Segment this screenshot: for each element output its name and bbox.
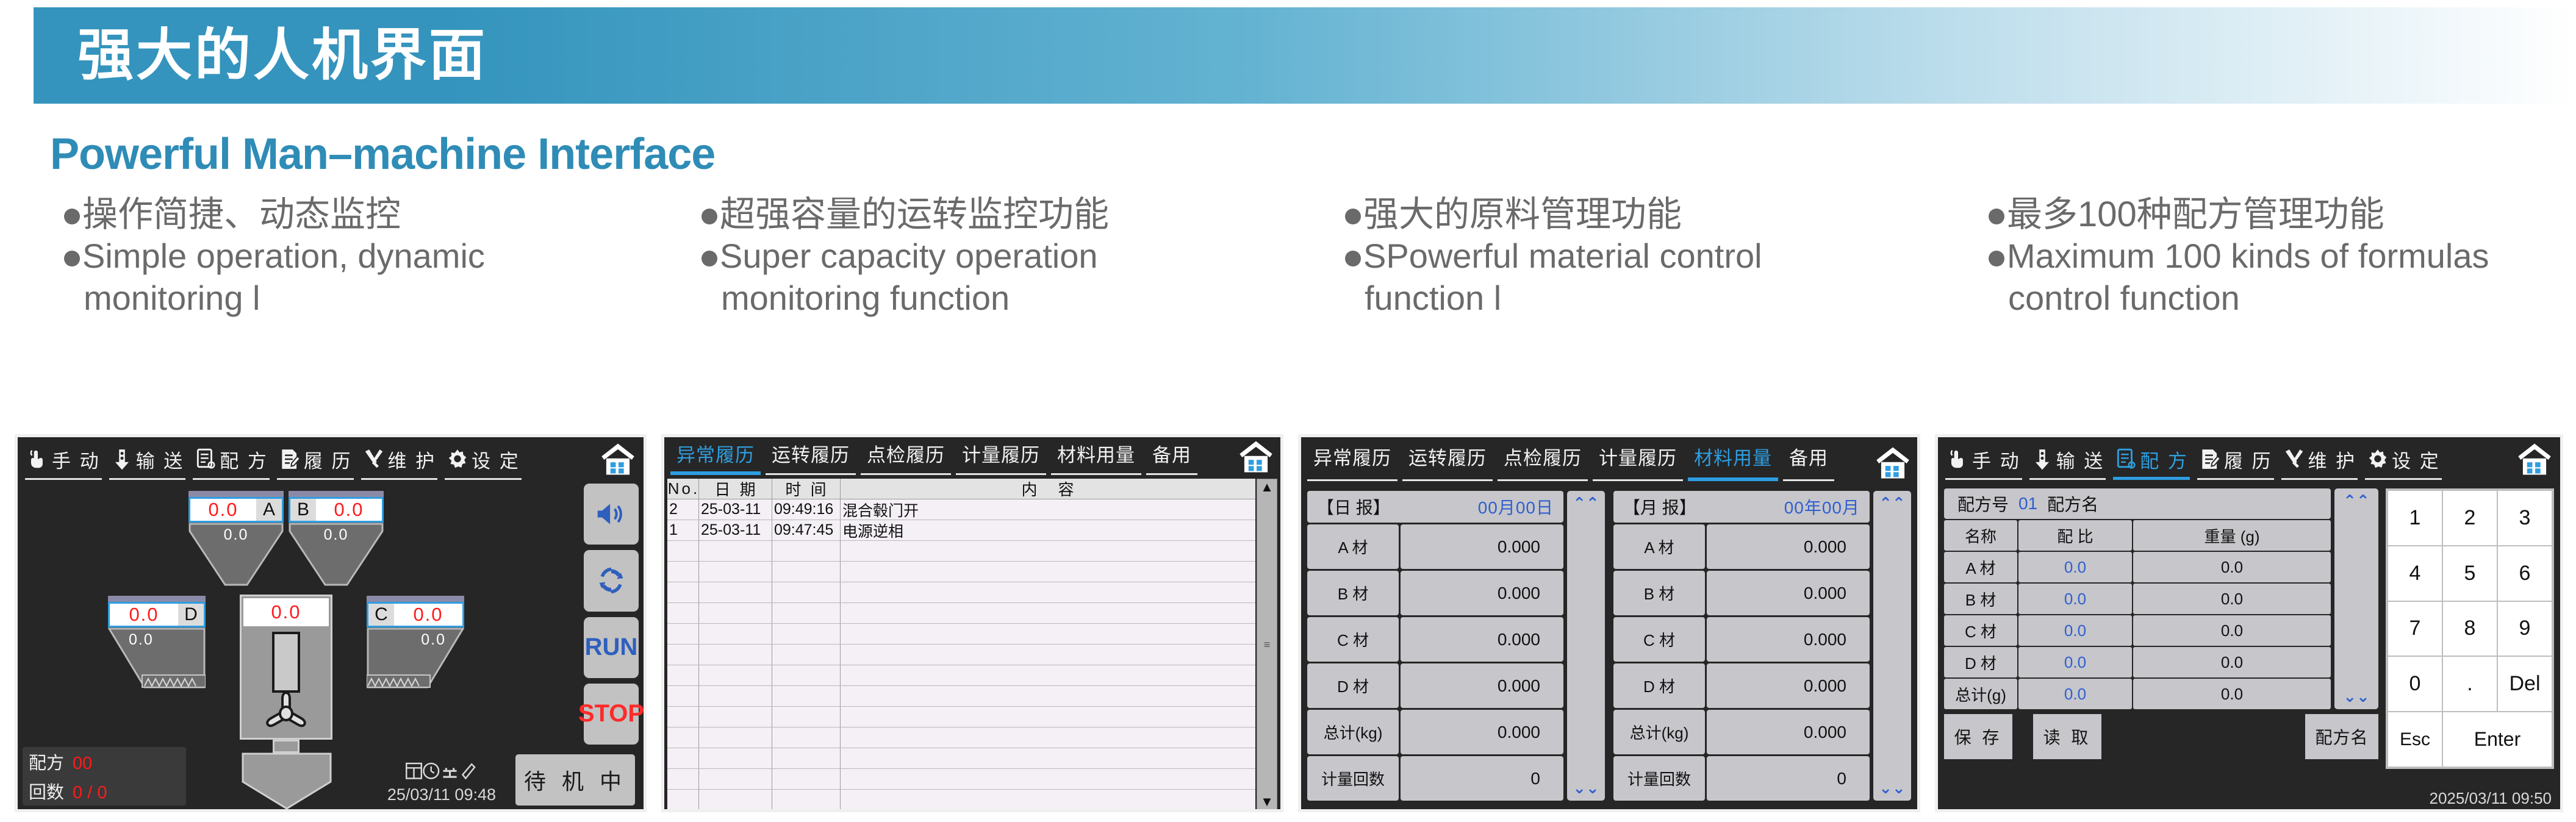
recipe-row: C 材0.00.0 — [1944, 615, 2331, 646]
daily-report-title: 【日 报】 — [1317, 495, 1390, 519]
cell-no — [667, 541, 699, 561]
mixer-gate — [273, 740, 300, 753]
feature-cn-text: 超强容量的运转监控功能 — [720, 195, 1109, 235]
cell-date — [699, 686, 772, 706]
cell-no — [667, 707, 699, 727]
scroll-down-arrow-icon[interactable]: ⌄⌄ — [2343, 690, 2370, 703]
hopper-b-subvalue: 0.0 — [289, 526, 384, 544]
hopper-c-value-bar[interactable]: C 0.0 — [367, 602, 464, 627]
reset-button[interactable] — [584, 550, 639, 611]
tab-operation-history[interactable]: 运转履历 — [1400, 437, 1495, 482]
tab-material-usage[interactable]: 材料用量 — [1049, 437, 1144, 476]
cell-date — [699, 582, 772, 602]
monthly-scroll-control[interactable]: ⌃⌃ ⌄⌄ — [1873, 491, 1911, 801]
monthly-report: 【月 报】 00年00月 A 材0.000B 材0.000C 材0.000D 材… — [1613, 491, 1911, 801]
monthly-report-header: 【月 报】 00年00月 — [1613, 491, 1870, 523]
feature-en-text: SPowerful material control — [1363, 237, 1762, 276]
nav-item-transport[interactable]: 输 送 — [106, 437, 190, 481]
run-button[interactable]: RUN — [584, 617, 639, 678]
recipe-cell-weight[interactable]: 0.0 — [2133, 552, 2331, 582]
hopper-d-value: 0.0 — [110, 604, 178, 626]
hmi-screenshot-row: 手 动 输 送 配 方 履 历 — [0, 434, 2576, 812]
feature-en-text: Simple operation, dynamic — [82, 237, 485, 276]
save-button[interactable]: 保 存 — [1944, 714, 2012, 759]
recipe-header: 配方号 01 配方名 — [1944, 488, 2331, 519]
keypad-key-6[interactable]: 6 — [2498, 546, 2552, 601]
hopper-b-value-bar[interactable]: B 0.0 — [289, 497, 384, 523]
keypad-key-.[interactable]: . — [2443, 657, 2497, 711]
cell-no — [667, 645, 699, 665]
feature-en-text: Super capacity operation — [720, 237, 1098, 276]
nav-label: 配 方 — [2140, 446, 2189, 473]
tab-alarm-history[interactable]: 异常履历 — [668, 437, 763, 476]
recipe-cell-ratio[interactable]: 0.0 — [2018, 552, 2132, 582]
tab-label: 点检履历 — [867, 440, 945, 467]
monthly-report-title: 【月 报】 — [1623, 495, 1696, 519]
tab-underline — [861, 473, 951, 475]
cell-content — [841, 603, 1255, 623]
nav-underline — [445, 478, 522, 480]
monthly-report-rows: A 材0.000B 材0.000C 材0.000D 材0.000总计(kg)0.… — [1613, 524, 1870, 801]
hopper-a-value: 0.0 — [190, 499, 256, 521]
hopper-a-subvalue: 0.0 — [188, 526, 284, 544]
hmi-panel-material-usage: 异常履历 运转履历 点检履历 计量履历 材料用量 备用 — [1298, 434, 1920, 812]
nav-underline — [2281, 478, 2358, 480]
nav-label: 维 护 — [2308, 446, 2357, 473]
history-doc-icon — [278, 448, 301, 471]
buzzer-button[interactable] — [584, 484, 639, 545]
tab-spare[interactable]: 备用 — [1144, 437, 1200, 476]
cell-time — [772, 686, 841, 706]
table-row[interactable] — [667, 665, 1255, 686]
cell-content — [841, 665, 1255, 685]
report-row-label: A 材 — [1613, 524, 1705, 569]
table-row[interactable] — [667, 645, 1255, 665]
nav-item-history[interactable]: 履 历 — [2194, 437, 2278, 481]
report-row-value: 0.000 — [1401, 617, 1563, 662]
nav-label: 手 动 — [1972, 446, 2021, 473]
table-row[interactable]: 225-03-1109:49:16混合毂门开 — [667, 499, 1255, 520]
bullet-dot-icon — [1345, 251, 1361, 266]
nav-underline — [109, 478, 186, 480]
tab-label: 计量履历 — [962, 440, 1040, 467]
keypad-key-5[interactable]: 5 — [2443, 546, 2497, 601]
tab-label: 运转履历 — [772, 440, 850, 467]
recipe-cell-name: C 材 — [1944, 615, 2017, 646]
speaker-icon — [595, 500, 627, 528]
keypad-key-1[interactable]: 1 — [2388, 491, 2442, 545]
keypad-key-del[interactable]: Del — [2498, 657, 2552, 711]
cell-time — [772, 790, 841, 810]
keypad-key-9[interactable]: 9 — [2498, 602, 2552, 656]
down-arrow-icon — [110, 448, 134, 471]
feature-cn-line: 操作简捷、动态监控 — [64, 195, 644, 235]
cell-time — [772, 748, 841, 768]
col-header-time: 时 间 — [772, 479, 841, 499]
hopper-b-value: 0.0 — [316, 499, 382, 521]
recipe-cell-ratio[interactable]: 0.0 — [2018, 584, 2132, 614]
clock-glyph-icons — [387, 760, 496, 784]
report-row: D 材0.000 — [1307, 663, 1563, 708]
scroll-up-arrow-icon[interactable]: ⌃⌃ — [1573, 497, 1599, 510]
nav-label: 维 护 — [388, 446, 437, 473]
report-row: C 材0.000 — [1613, 617, 1870, 662]
cell-no — [667, 562, 699, 582]
recipe-cell-weight[interactable]: 0.0 — [2133, 679, 2331, 709]
panel1-side-buttons: RUN STOP — [584, 484, 639, 745]
feature-en-line: SPowerful material control — [1345, 237, 1931, 276]
nav-item-settings[interactable]: 设 定 — [2361, 437, 2445, 481]
nav-label: 履 历 — [304, 446, 353, 473]
cell-time — [772, 727, 841, 748]
home-icon[interactable] — [2511, 440, 2558, 479]
mixer-vessel[interactable]: 0.0 — [240, 595, 332, 740]
panel1-navbar: 手 动 输 送 配 方 履 历 — [18, 437, 644, 481]
panel1-mimic-area: 0.0 A 0.0 B 0.0 — [18, 481, 644, 809]
nav-item-manual[interactable]: 手 动 — [21, 437, 106, 481]
discharge-chute — [241, 752, 332, 810]
cell-time — [772, 582, 841, 602]
hopper-d-value-bar[interactable]: 0.0 D — [108, 602, 206, 627]
nav-underline — [277, 478, 354, 480]
scroll-down-arrow-icon[interactable]: ▼ — [1260, 795, 1274, 809]
feature-en-continuation: control function — [2008, 278, 2574, 318]
recipe-cell-name: A 材 — [1944, 552, 2017, 582]
table-header-row: No. 日 期 时 间 内 容 — [667, 479, 1255, 499]
cell-content — [841, 686, 1255, 706]
report-row-value: 0.000 — [1707, 663, 1870, 708]
daily-report-period[interactable]: 00月00日 — [1478, 495, 1554, 519]
panel2-body: No. 日 期 时 间 内 容 225-03-1109:49:16混合毂门开12… — [664, 476, 1280, 812]
tab-underline — [1051, 473, 1141, 475]
panel4-body: 配方号 01 配方名 名称 配 比 重量 (g) A 材0.00.0B 材0.0… — [1938, 481, 2560, 809]
report-row-label: 总计(kg) — [1613, 710, 1705, 754]
alarm-log-table: No. 日 期 时 间 内 容 225-03-1109:49:16混合毂门开12… — [667, 479, 1255, 810]
table-row[interactable] — [667, 686, 1255, 707]
report-row: 计量回数0 — [1613, 756, 1870, 801]
recipe-table-area: 配方号 01 配方名 名称 配 比 重量 (g) A 材0.00.0B 材0.0… — [1944, 488, 2378, 709]
feature-cn-text: 最多100种配方管理功能 — [2007, 195, 2384, 235]
bullet-dot-icon — [64, 251, 80, 266]
daily-report: 【日 报】 00月00日 A 材0.000B 材0.000C 材0.000D 材… — [1307, 491, 1605, 801]
nav-item-settings[interactable]: 设 定 — [441, 437, 525, 481]
scroll-up-arrow-icon[interactable]: ▲ — [1260, 481, 1274, 494]
nav-label: 设 定 — [472, 446, 520, 473]
hopper-c[interactable]: C 0.0 0.0 — [367, 596, 464, 692]
cell-date — [699, 562, 772, 582]
nav-item-manual[interactable]: 手 动 — [1942, 437, 2026, 481]
feature-en-line: Simple operation, dynamic — [64, 237, 644, 276]
keypad-key-2[interactable]: 2 — [2443, 491, 2497, 545]
timestamp: 25/03/11 09:48 — [387, 785, 496, 804]
cell-date — [699, 624, 772, 644]
tab-spare[interactable]: 备用 — [1781, 437, 1837, 482]
clock-area: 25/03/11 09:48 — [387, 760, 496, 804]
report-row-value: 0 — [1401, 756, 1563, 801]
report-row-value: 0.000 — [1707, 571, 1870, 615]
recipe-no-value[interactable]: 01 — [2018, 494, 2037, 513]
keypad-key-0[interactable]: 0 — [2388, 657, 2442, 711]
recipe-cell-weight[interactable]: 0.0 — [2133, 615, 2331, 646]
home-icon[interactable] — [1233, 437, 1279, 476]
nav-item-maintenance[interactable]: 维 护 — [2278, 437, 2362, 481]
feature-column: 最多100种配方管理功能 Maximum 100 kinds of formul… — [1931, 195, 2574, 378]
cell-content — [841, 769, 1255, 789]
keypad-key-esc[interactable]: Esc — [2388, 712, 2442, 767]
cell-content — [841, 582, 1255, 602]
daily-scroll-control[interactable]: ⌃⌃ ⌄⌄ — [1567, 491, 1605, 801]
hopper-a-tag: A — [256, 499, 282, 521]
table-row[interactable]: 125-03-1109:47:45电源逆相 — [667, 520, 1255, 541]
cell-time — [772, 541, 841, 561]
bullet-dot-icon — [701, 251, 717, 266]
status-count-row: 回数 0 / 0 — [29, 778, 180, 804]
cell-content — [841, 624, 1255, 644]
col-header-content: 内 容 — [841, 479, 1255, 499]
tab-operation-history[interactable]: 运转履历 — [763, 437, 858, 476]
recipe-cell-ratio[interactable]: 0.0 — [2018, 615, 2132, 646]
report-row: 总计(kg)0.000 — [1307, 710, 1563, 754]
nav-underline — [2029, 478, 2106, 480]
report-row-value: 0.000 — [1401, 524, 1563, 569]
vertical-scrollbar[interactable]: ▲ ≡ ▼ — [1257, 479, 1277, 810]
tab-label: 备用 — [1152, 440, 1191, 467]
recipe-action-buttons: 保 存 读 取 配方名 — [1944, 714, 2378, 759]
bullet-dot-icon — [1345, 209, 1361, 224]
hopper-c-subvalue: 0.0 — [367, 631, 464, 649]
recipe-cell-ratio[interactable]: 0.0 — [2018, 679, 2132, 709]
cell-date — [699, 727, 772, 748]
recipe-scroll-control[interactable]: ⌃⌃ ⌄⌄ — [2334, 488, 2378, 709]
feature-en-continuation: function l — [1365, 278, 1931, 318]
report-row-label: 计量回数 — [1613, 756, 1705, 801]
report-row-label: D 材 — [1613, 663, 1705, 708]
keypad-key-3[interactable]: 3 — [2498, 491, 2552, 545]
table-row[interactable] — [667, 624, 1255, 645]
cell-content — [841, 562, 1255, 582]
feature-column: 操作简捷、动态监控 Simple operation, dynamic moni… — [0, 195, 644, 378]
recipe-doc-icon — [194, 448, 217, 471]
cell-date — [699, 541, 772, 561]
report-row: D 材0.000 — [1613, 663, 1870, 708]
table-row[interactable] — [667, 582, 1255, 603]
report-row-value: 0.000 — [1401, 663, 1563, 708]
report-row-label: C 材 — [1307, 617, 1399, 662]
tab-underline — [766, 473, 856, 475]
daily-report-rows: A 材0.000B 材0.000C 材0.000D 材0.000总计(kg)0.… — [1307, 524, 1563, 801]
cell-no: 1 — [667, 520, 699, 540]
hopper-d[interactable]: 0.0 D 0.0 — [108, 596, 206, 692]
scroll-down-arrow-icon[interactable]: ⌄⌄ — [1573, 782, 1599, 795]
cell-date — [699, 748, 772, 768]
recipe-row: B 材0.00.0 — [1944, 584, 2331, 614]
table-row[interactable] — [667, 603, 1255, 624]
keypad-key-enter[interactable]: Enter — [2443, 712, 2552, 767]
hopper-cap — [108, 596, 206, 602]
cell-content — [841, 790, 1255, 810]
status-count-value: 0 / 0 — [73, 783, 107, 803]
nav-underline — [25, 478, 102, 480]
scroll-down-arrow-icon[interactable]: ⌄⌄ — [1879, 782, 1906, 795]
panel2-tabbar: 异常履历 运转履历 点检履历 计量履历 材料用量 备用 — [664, 437, 1280, 476]
hopper-b-tag: B — [290, 499, 316, 521]
report-row-label: D 材 — [1307, 663, 1399, 708]
hopper-d-subvalue: 0.0 — [108, 631, 206, 649]
recipe-cell-weight[interactable]: 0.0 — [2133, 647, 2331, 677]
hopper-cap — [188, 491, 284, 497]
tab-underline — [1307, 479, 1397, 481]
table-row[interactable] — [667, 707, 1255, 727]
scroll-up-arrow-icon[interactable]: ⌃⌃ — [1879, 497, 1906, 510]
cell-date: 25-03-11 — [699, 499, 772, 520]
hopper-d-funnel: 0.0 — [108, 627, 206, 692]
hopper-c-value: 0.0 — [394, 604, 462, 626]
report-row: A 材0.000 — [1307, 524, 1563, 569]
alarm-log-rows: 225-03-1109:49:16混合毂门开125-03-1109:47:45电… — [667, 499, 1255, 810]
cell-time — [772, 562, 841, 582]
table-row[interactable] — [667, 769, 1255, 790]
keypad-key-7[interactable]: 7 — [2388, 602, 2442, 656]
panel4-navbar: 手 动 输 送 配 方 履 历 — [1938, 437, 2560, 481]
home-icon[interactable] — [1870, 443, 1916, 482]
hopper-a[interactable]: 0.0 A 0.0 — [188, 491, 284, 589]
recipe-table: 配方号 01 配方名 名称 配 比 重量 (g) A 材0.00.0B 材0.0… — [1944, 488, 2331, 709]
refresh-icon — [597, 566, 626, 595]
daily-report-header: 【日 报】 00月00日 — [1307, 491, 1563, 523]
tab-inspection-history[interactable]: 点检履历 — [858, 437, 953, 476]
cell-time: 09:49:16 — [772, 499, 841, 520]
report-row-value: 0.000 — [1707, 710, 1870, 754]
mixer-total-value: 0.0 — [243, 598, 329, 626]
cell-content — [841, 727, 1255, 748]
nav-label: 履 历 — [2224, 446, 2273, 473]
hand-touch-icon — [26, 448, 49, 471]
scroll-thumb-grip[interactable]: ≡ — [1264, 639, 1271, 650]
tab-underline — [1498, 479, 1588, 481]
recipe-cell-name: B 材 — [1944, 584, 2017, 614]
tab-label: 计量履历 — [1599, 443, 1677, 470]
report-row: C 材0.000 — [1307, 617, 1563, 662]
cell-content — [841, 645, 1255, 665]
tab-weighing-history[interactable]: 计量履历 — [953, 437, 1049, 476]
cell-no — [667, 665, 699, 685]
col-header-no: No. — [667, 479, 699, 499]
status-count-label: 回数 — [29, 778, 64, 804]
hopper-c-funnel: 0.0 — [367, 627, 464, 692]
cell-no — [667, 582, 699, 602]
report-row-value: 0.000 — [1401, 571, 1563, 615]
feature-column: 强大的原料管理功能 SPowerful material control fun… — [1287, 195, 1931, 378]
nav-item-recipe[interactable]: 配 方 — [189, 437, 273, 481]
tab-weighing-history[interactable]: 计量履历 — [1590, 437, 1685, 482]
keypad-key-8[interactable]: 8 — [2443, 602, 2497, 656]
report-row-value: 0 — [1707, 756, 1870, 801]
tab-label: 异常履历 — [676, 440, 755, 467]
panel3-tabbar: 异常履历 运转履历 点检履历 计量履历 材料用量 备用 — [1301, 437, 1917, 482]
hopper-b-funnel: 0.0 — [289, 523, 384, 589]
panel3-body: 【日 报】 00月00日 A 材0.000B 材0.000C 材0.000D 材… — [1301, 482, 1917, 809]
mixer-shaft — [272, 632, 300, 693]
cell-no — [667, 624, 699, 644]
tab-underline — [670, 471, 761, 475]
nav-label: 手 动 — [52, 446, 101, 473]
status-summary-box: 配方 00 回数 0 / 0 — [23, 747, 186, 806]
tab-underline — [956, 473, 1046, 475]
tab-material-usage[interactable]: 材料用量 — [1685, 437, 1781, 482]
recipe-row: 总计(g)0.00.0 — [1944, 679, 2331, 709]
tab-inspection-history[interactable]: 点检履历 — [1495, 437, 1590, 482]
bullet-dot-icon — [1989, 209, 2004, 224]
report-row-label: A 材 — [1307, 524, 1399, 569]
feature-en-continuation: monitoring function — [721, 278, 1287, 318]
table-row[interactable] — [667, 727, 1255, 748]
cell-time — [772, 603, 841, 623]
hmi-panel-monitor: 手 动 输 送 配 方 履 历 — [15, 434, 647, 812]
feature-cn-line: 强大的原料管理功能 — [1345, 195, 1931, 235]
nav-item-maintenance[interactable]: 维 护 — [357, 437, 442, 481]
feature-cn-text: 强大的原料管理功能 — [1363, 195, 1682, 235]
cell-date: 25-03-11 — [699, 520, 772, 540]
tab-underline — [1783, 479, 1834, 481]
table-row[interactable] — [667, 790, 1255, 810]
cell-no — [667, 727, 699, 748]
home-icon[interactable] — [595, 440, 641, 479]
hopper-cap — [289, 491, 384, 497]
cell-date — [699, 603, 772, 623]
cell-date — [699, 769, 772, 789]
keypad-key-4[interactable]: 4 — [2388, 546, 2442, 601]
hand-touch-icon — [1946, 448, 1970, 471]
status-recipe-label: 配方 — [29, 749, 64, 774]
tab-underline — [1688, 477, 1778, 481]
recipe-row: D 材0.00.0 — [1944, 647, 2331, 677]
cell-no — [667, 603, 699, 623]
nav-item-recipe[interactable]: 配 方 — [2109, 437, 2194, 481]
tab-label: 备用 — [1789, 443, 1828, 470]
recipe-name-button[interactable]: 配方名 — [2305, 714, 2378, 759]
feature-column: 超强容量的运转监控功能 Super capacity operation mon… — [644, 195, 1287, 378]
stop-button[interactable]: STOP — [584, 684, 639, 745]
tab-alarm-history[interactable]: 异常履历 — [1305, 437, 1400, 482]
bullet-dot-icon — [1989, 251, 2004, 266]
load-button[interactable]: 读 取 — [2033, 714, 2101, 759]
recipe-cell-ratio[interactable]: 0.0 — [2018, 647, 2132, 677]
daily-report-table: 【日 报】 00月00日 A 材0.000B 材0.000C 材0.000D 材… — [1307, 491, 1563, 801]
monthly-report-table: 【月 报】 00年00月 A 材0.000B 材0.000C 材0.000D 材… — [1613, 491, 1870, 801]
hopper-cap — [367, 596, 464, 602]
nav-item-history[interactable]: 履 历 — [273, 437, 357, 481]
cell-time — [772, 645, 841, 665]
recipe-name-label: 配方名 — [2047, 491, 2098, 516]
scroll-up-arrow-icon[interactable]: ⌃⌃ — [2343, 495, 2370, 507]
page-banner: 强大的人机界面 — [34, 7, 2576, 104]
nav-item-transport[interactable]: 输 送 — [2026, 437, 2110, 481]
table-row[interactable] — [667, 748, 1255, 769]
bullet-dot-icon — [701, 209, 717, 224]
recipe-cell-weight[interactable]: 0.0 — [2133, 584, 2331, 614]
numeric-keypad: 1234567890.DelEscEnter — [2386, 488, 2554, 769]
monthly-report-period[interactable]: 00年00月 — [1784, 495, 1860, 519]
nav-underline — [2365, 478, 2442, 480]
table-row[interactable] — [667, 562, 1255, 582]
feature-en-line: Super capacity operation — [701, 237, 1287, 276]
nav-underline — [193, 478, 270, 480]
hopper-a-value-bar[interactable]: 0.0 A — [188, 497, 284, 523]
table-row[interactable] — [667, 541, 1255, 562]
hopper-b[interactable]: B 0.0 0.0 — [289, 491, 384, 589]
tab-underline — [1146, 473, 1197, 475]
col-header-name: 名称 — [1944, 520, 2017, 551]
